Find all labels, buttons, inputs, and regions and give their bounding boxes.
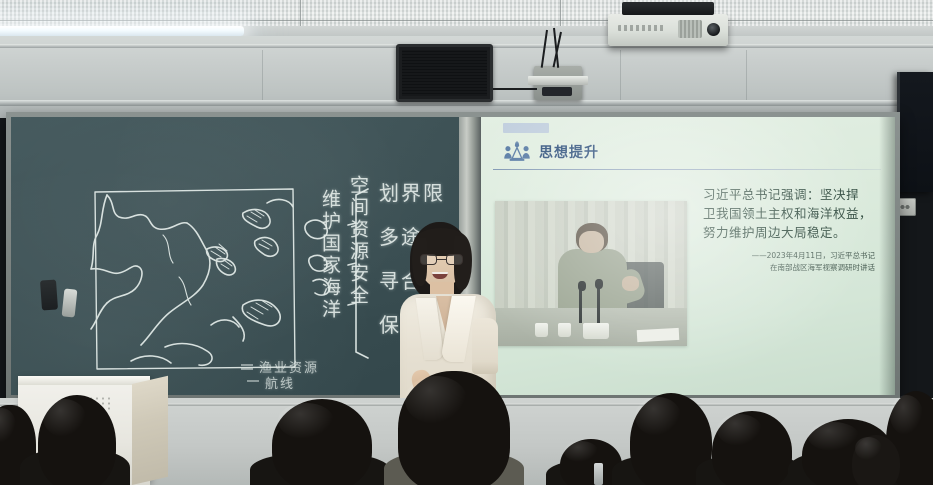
slide-body: 习近平总书记强调：坚决捍 卫我国领土主权和海洋权益， 努力维护周边大局稳定。 —… [481, 179, 895, 387]
student-head [852, 435, 900, 485]
slide-quote-block: 习近平总书记强调：坚决捍 卫我国领土主权和海洋权益， 努力维护周边大局稳定。 —… [699, 179, 881, 387]
projector-vent [678, 20, 702, 38]
slide-title: 思想提升 [539, 142, 599, 162]
speaker-grille [402, 50, 487, 96]
wall-mounted-camera [534, 66, 582, 100]
student-head [272, 399, 372, 485]
quote-line-2: 卫我国领土主权和海洋权益， [703, 204, 881, 223]
student-head [712, 411, 792, 485]
fluorescent-tube-light [0, 26, 244, 36]
slide: 思想提升 [481, 117, 895, 395]
wall-speaker-left [396, 44, 493, 102]
lectern-top [18, 376, 150, 385]
student-head [38, 395, 116, 485]
cable [493, 88, 537, 90]
student-head [398, 371, 510, 485]
slide-photo [495, 201, 687, 346]
quote-line-1: 习近平总书记强调：坚决捍 [703, 185, 881, 204]
photo-person-face [579, 231, 604, 253]
water-bottle [594, 463, 603, 485]
attribution-line-2: 在南部战区海军视察调研时讲话 [703, 262, 881, 274]
projection-screen: 思想提升 [481, 117, 895, 395]
photo-microphone-head [578, 281, 586, 291]
wall-panel-seam [262, 50, 263, 100]
slide-title-rule [493, 169, 881, 170]
ceiling-seam [0, 20, 933, 21]
photo-cup [558, 323, 571, 337]
ceiling-seam [300, 0, 301, 26]
ceiling-texture [0, 0, 933, 26]
wall-panel-seam [746, 50, 747, 100]
projector-brand-label [618, 25, 664, 31]
lecturer-cuff [472, 362, 498, 374]
attribution-line-1: ——2023年4月11日，习近平总书记 [703, 250, 881, 262]
photo-nameplate [583, 323, 609, 339]
slide-header: 思想提升 [503, 141, 879, 163]
camera-lens-icon [542, 87, 572, 96]
ceiling-projector [608, 14, 728, 46]
lectern-side-panel [132, 376, 168, 485]
classroom-scene: 维护国家海洋 空间资源安全 划界限 多途径 寻合作 保海运 渔业资源 航线 [0, 0, 933, 485]
slide-corner-tag [503, 123, 549, 133]
ceiling-seam [560, 0, 561, 26]
photo-person-hand [622, 276, 639, 291]
quote-line-3: 努力维护周边大局稳定。 [703, 223, 881, 242]
camera-bracket [528, 76, 588, 85]
projector-mount [622, 2, 714, 15]
photo-document [637, 328, 680, 342]
group-people-icon [503, 141, 531, 163]
chalkboard: 维护国家海洋 空间资源安全 划界限 多途径 寻合作 保海运 渔业资源 航线 [11, 117, 459, 395]
chalk-tick-marks [11, 117, 459, 395]
projector-lens-icon [707, 23, 720, 36]
wall-speaker-right [897, 72, 933, 192]
lecturer-glasses-icon [420, 254, 463, 265]
photo-microphone [597, 284, 600, 323]
blackboard-eraser[interactable] [40, 279, 58, 310]
photo-microphone-head [595, 279, 603, 289]
wall-panel-seam [620, 50, 621, 100]
photo-cup [535, 323, 548, 337]
